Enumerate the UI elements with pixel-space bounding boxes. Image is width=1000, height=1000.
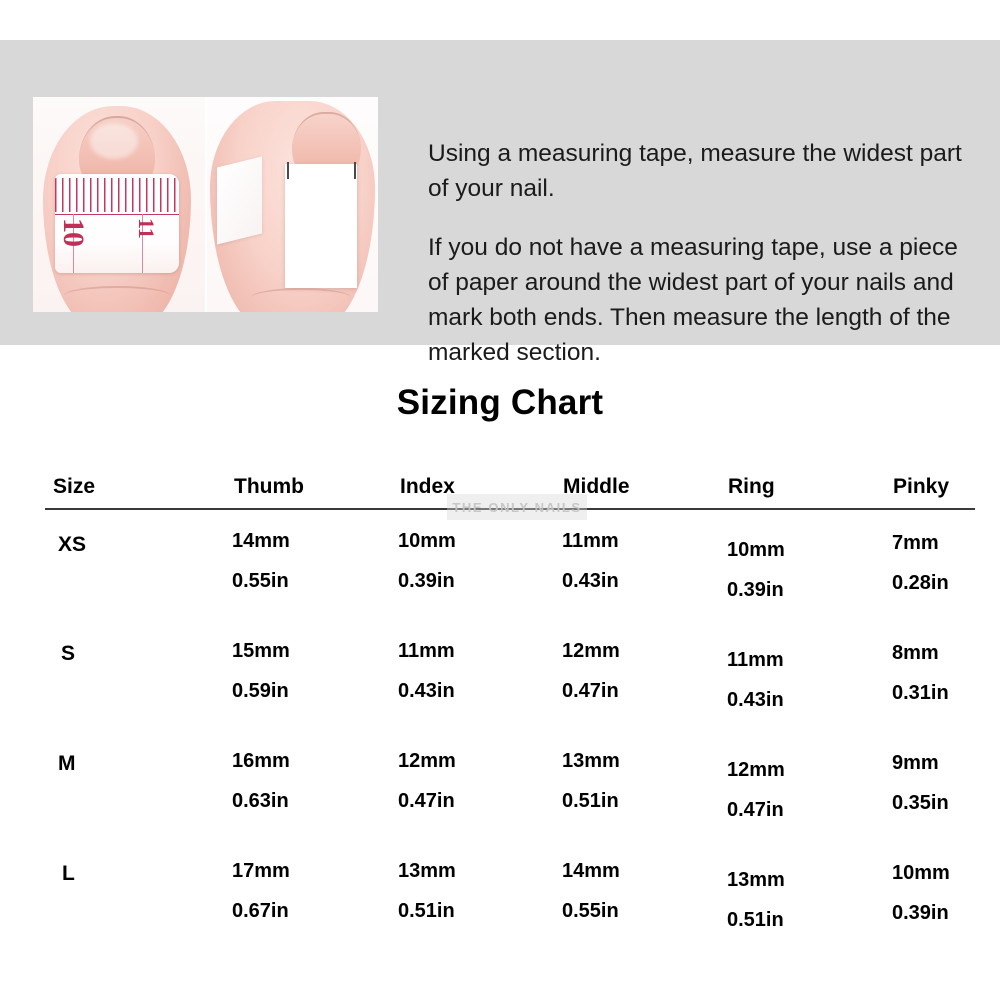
paper-mark-left: [287, 162, 289, 179]
cell-l-ring-in: 0.51in: [727, 909, 784, 932]
cell-m-ring-in: 0.47in: [727, 799, 784, 822]
cell-xs-ring-mm: 10mm: [727, 539, 785, 562]
cell-s-index-mm: 11mm: [398, 640, 455, 663]
cell-l-middle-mm: 14mm: [562, 860, 620, 883]
cell-m-pinky-mm: 9mm: [892, 752, 939, 775]
cell-s-ring-in: 0.43in: [727, 689, 784, 712]
cell-l-index-mm: 13mm: [398, 860, 456, 883]
cell-m-middle-mm: 13mm: [562, 750, 620, 773]
cell-m-thumb-in: 0.63in: [232, 790, 289, 813]
cell-l-middle-in: 0.55in: [562, 900, 619, 923]
cell-xs-pinky-in: 0.28in: [892, 572, 949, 595]
column-header-thumb: Thumb: [234, 475, 304, 499]
tape-ticks: [55, 178, 178, 212]
nail-highlight: [90, 123, 138, 160]
cell-m-pinky-in: 0.35in: [892, 792, 949, 815]
instruction-paragraph-2: If you do not have a measuring tape, use…: [428, 230, 980, 370]
cell-m-middle-in: 0.51in: [562, 790, 619, 813]
cell-xs-pinky-mm: 7mm: [892, 532, 939, 555]
measuring-tape: 10 11: [55, 174, 178, 273]
cell-xs-index-mm: 10mm: [398, 530, 456, 553]
cell-s-thumb-in: 0.59in: [232, 680, 289, 703]
cell-l-pinky-mm: 10mm: [892, 862, 950, 885]
cell-l-ring-mm: 13mm: [727, 869, 785, 892]
cell-l-index-in: 0.51in: [398, 900, 455, 923]
knuckle-crease: [251, 288, 350, 307]
column-header-ring: Ring: [728, 475, 775, 499]
cell-m-index-in: 0.47in: [398, 790, 455, 813]
page-title: Sizing Chart: [0, 383, 1000, 423]
cell-s-thumb-mm: 15mm: [232, 640, 290, 663]
row-label-s: S: [61, 642, 75, 666]
column-header-pinky: Pinky: [893, 475, 949, 499]
row-label-m: M: [58, 752, 76, 776]
sizing-chart-page: 10 11 Using a measuring tape, measure th…: [0, 0, 1000, 1000]
instruction-banner: 10 11 Using a measuring tape, measure th…: [0, 40, 1000, 345]
cell-s-pinky-mm: 8mm: [892, 642, 939, 665]
watermark: THE ONLY NAILS: [447, 494, 587, 520]
cell-l-pinky-in: 0.39in: [892, 902, 949, 925]
paper-mark-right: [354, 162, 356, 179]
cell-s-index-in: 0.43in: [398, 680, 455, 703]
column-header-size: Size: [53, 475, 95, 499]
paper-strip: [285, 164, 357, 289]
cell-l-thumb-in: 0.67in: [232, 900, 289, 923]
cell-m-index-mm: 12mm: [398, 750, 456, 773]
cell-m-ring-mm: 12mm: [727, 759, 785, 782]
cell-s-middle-in: 0.47in: [562, 680, 619, 703]
cell-xs-index-in: 0.39in: [398, 570, 455, 593]
cell-s-middle-mm: 12mm: [562, 640, 620, 663]
cell-xs-ring-in: 0.39in: [727, 579, 784, 602]
cell-xs-thumb-mm: 14mm: [232, 530, 290, 553]
instruction-photo-pair: 10 11: [33, 97, 378, 312]
tape-number-11: 11: [133, 218, 159, 239]
cell-s-ring-mm: 11mm: [727, 649, 784, 672]
cell-xs-thumb-in: 0.55in: [232, 570, 289, 593]
instruction-text-block: Using a measuring tape, measure the wide…: [428, 136, 980, 370]
cell-xs-middle-in: 0.43in: [562, 570, 619, 593]
cell-s-pinky-in: 0.31in: [892, 682, 949, 705]
knuckle-crease: [64, 286, 170, 305]
cell-m-thumb-mm: 16mm: [232, 750, 290, 773]
finger-with-paper-strip-photo: [207, 97, 379, 312]
paper-loose-end: [217, 156, 262, 245]
row-label-xs: XS: [58, 533, 86, 557]
row-label-l: L: [62, 862, 75, 886]
instruction-paragraph-1: Using a measuring tape, measure the wide…: [428, 136, 980, 206]
cell-l-thumb-mm: 17mm: [232, 860, 290, 883]
cell-xs-middle-mm: 11mm: [562, 530, 619, 553]
tape-number-10: 10: [56, 218, 90, 246]
finger-with-measuring-tape-photo: 10 11: [33, 97, 205, 312]
